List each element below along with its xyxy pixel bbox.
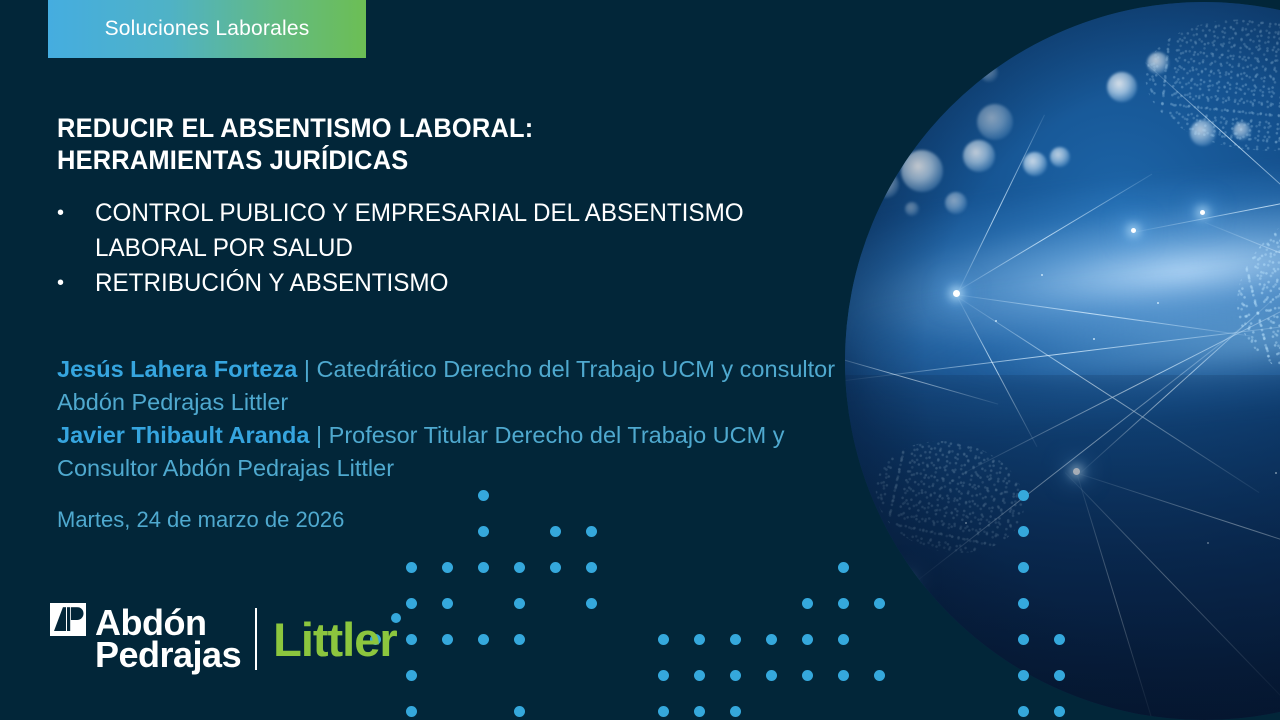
logo-word-pedrajas: Pedrajas xyxy=(95,638,241,672)
halftone-dot xyxy=(1018,598,1029,609)
speaker-name: Jesús Lahera Forteza xyxy=(57,356,297,382)
halftone-dot xyxy=(514,706,525,717)
halftone-dot xyxy=(514,562,525,573)
abdon-pedrajas-wordmark: Abdón Pedrajas xyxy=(95,606,241,672)
halftone-dot xyxy=(874,598,885,609)
littler-wordmark: Littler xyxy=(273,612,397,667)
halftone-dot xyxy=(406,634,417,645)
halftone-dot xyxy=(1018,706,1029,717)
halftone-dot xyxy=(1054,706,1065,717)
logo-word-littler: Littler xyxy=(273,613,397,666)
halftone-dot xyxy=(1018,562,1029,573)
halftone-dot xyxy=(694,670,705,681)
bullet-item-label: RETRIBUCIÓN Y ABSENTISMO xyxy=(95,266,776,301)
halftone-dot xyxy=(766,670,777,681)
halftone-dot xyxy=(802,670,813,681)
halftone-dot xyxy=(586,598,597,609)
halftone-dot xyxy=(730,670,741,681)
halftone-dot xyxy=(730,706,741,717)
speaker-name: Javier Thibault Aranda xyxy=(57,422,309,448)
halftone-dot xyxy=(442,562,453,573)
halftone-dot xyxy=(658,634,669,645)
halftone-dot xyxy=(838,670,849,681)
halftone-dot xyxy=(478,634,489,645)
halftone-dot xyxy=(406,706,417,717)
halftone-dot xyxy=(766,634,777,645)
halftone-dot xyxy=(874,670,885,681)
halftone-dot xyxy=(838,562,849,573)
halftone-dot xyxy=(1054,670,1065,681)
halftone-dot xyxy=(658,670,669,681)
halftone-dot xyxy=(730,634,741,645)
bullet-item: • RETRIBUCIÓN Y ABSENTISMO xyxy=(57,266,797,301)
halftone-dot xyxy=(1018,526,1029,537)
presentation-slide: Soluciones Laborales REDUCIR EL ABSENTIS… xyxy=(0,0,1280,720)
halftone-dot xyxy=(478,490,489,501)
halftone-dot xyxy=(1018,490,1029,501)
littler-accent-dot-icon xyxy=(391,613,401,623)
halftone-dot xyxy=(442,598,453,609)
halftone-dot-grid xyxy=(370,490,860,720)
halftone-dot xyxy=(802,634,813,645)
logo-lockup: Abdón Pedrajas Littler xyxy=(50,600,397,678)
bullet-list: • CONTROL PUBLICO Y EMPRESARIAL DEL ABSE… xyxy=(57,196,797,301)
event-date: Martes, 24 de marzo de 2026 xyxy=(57,507,344,533)
global-network-image xyxy=(845,2,1280,720)
bullet-item-label: CONTROL PUBLICO Y EMPRESARIAL DEL ABSENT… xyxy=(95,196,776,266)
halftone-dot xyxy=(802,598,813,609)
speaker-entry: Jesús Lahera Forteza | Catedrático Derec… xyxy=(57,353,847,419)
halftone-dot xyxy=(838,634,849,645)
halftone-dot xyxy=(838,598,849,609)
page-title: REDUCIR EL ABSENTISMO LABORAL: HERRAMIEN… xyxy=(57,112,748,176)
halftone-dot xyxy=(514,634,525,645)
halftone-dot xyxy=(550,526,561,537)
halftone-dot xyxy=(586,562,597,573)
halftone-dot xyxy=(694,706,705,717)
halftone-dot xyxy=(406,598,417,609)
halftone-dot xyxy=(442,634,453,645)
halftone-dot xyxy=(1054,634,1065,645)
category-banner-label: Soluciones Laborales xyxy=(48,17,366,41)
abdon-pedrajas-monogram-icon xyxy=(50,603,86,636)
title-line-2: HERRAMIENTAS JURÍDICAS xyxy=(57,144,748,176)
bullet-marker-icon: • xyxy=(57,266,95,301)
bullet-marker-icon: • xyxy=(57,196,95,231)
speaker-separator: | xyxy=(309,422,328,448)
speaker-entry: Javier Thibault Aranda | Profesor Titula… xyxy=(57,419,847,485)
speaker-list: Jesús Lahera Forteza | Catedrático Derec… xyxy=(57,353,847,485)
category-banner: Soluciones Laborales xyxy=(48,0,366,58)
speaker-separator: | xyxy=(297,356,316,382)
title-line-1: REDUCIR EL ABSENTISMO LABORAL: xyxy=(57,112,748,144)
halftone-dot xyxy=(658,706,669,717)
halftone-dot xyxy=(1018,670,1029,681)
logo-divider xyxy=(255,608,257,670)
halftone-dot xyxy=(1018,634,1029,645)
halftone-dot xyxy=(694,634,705,645)
halftone-dot xyxy=(406,562,417,573)
halftone-dot xyxy=(514,598,525,609)
halftone-dot xyxy=(478,562,489,573)
halftone-dot xyxy=(406,670,417,681)
halftone-dot xyxy=(586,526,597,537)
bullet-item: • CONTROL PUBLICO Y EMPRESARIAL DEL ABSE… xyxy=(57,196,797,266)
halftone-dot xyxy=(550,562,561,573)
halftone-dot xyxy=(478,526,489,537)
